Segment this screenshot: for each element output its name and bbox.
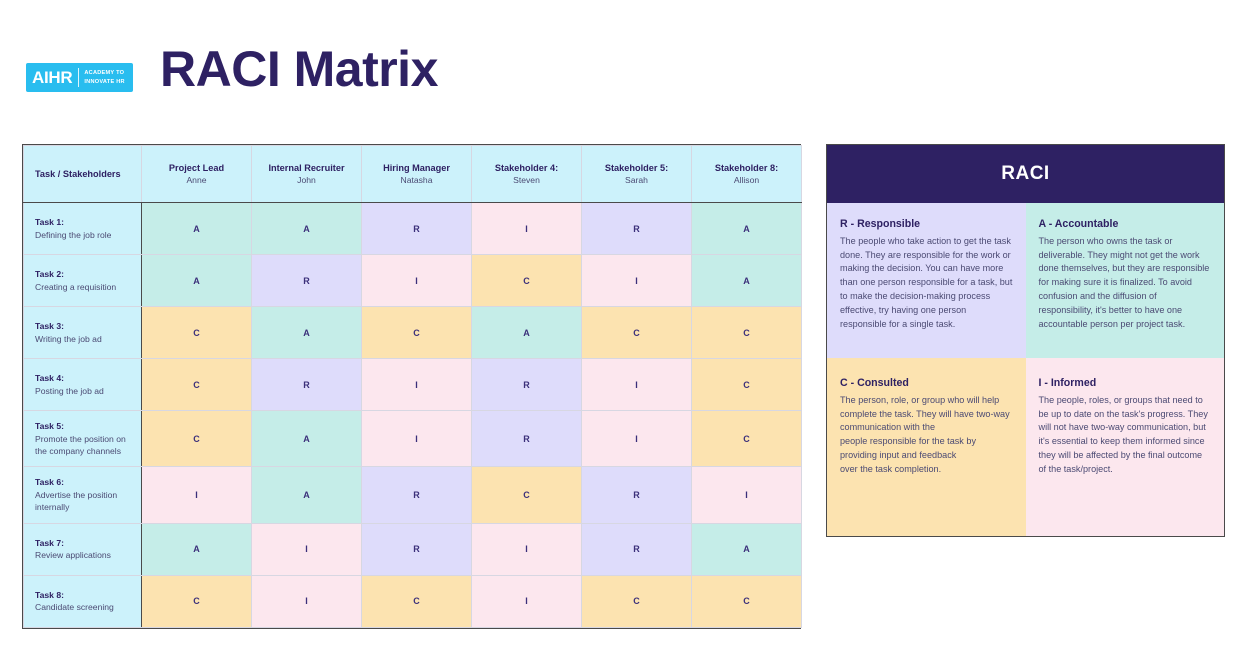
raci-cell: C xyxy=(582,307,692,359)
raci-cell: I xyxy=(582,255,692,307)
raci-cell: R xyxy=(472,359,582,411)
task-number: Task 1: xyxy=(35,216,132,229)
task-number: Task 3: xyxy=(35,320,132,333)
raci-cell: C xyxy=(692,359,802,411)
legend-grid: R - Responsible The people who take acti… xyxy=(827,203,1224,536)
task-description: Promote the position on the company chan… xyxy=(35,433,132,457)
raci-cell: I xyxy=(472,523,582,575)
raci-cell: R xyxy=(362,203,472,255)
raci-cell: A xyxy=(252,411,362,467)
page-title: RACI Matrix xyxy=(160,44,438,94)
task-number: Task 8: xyxy=(35,589,132,602)
raci-cell: I xyxy=(582,359,692,411)
task-cell: Task 7:Review applications xyxy=(24,523,142,575)
column-header-stakeholder: Hiring Manager Natasha xyxy=(362,146,472,203)
raci-cell: C xyxy=(142,359,252,411)
column-header-stakeholder: Stakeholder 8: Allison xyxy=(692,146,802,203)
task-number: Task 4: xyxy=(35,372,132,385)
legend-item-responsible: R - Responsible The people who take acti… xyxy=(827,203,1026,358)
task-description: Writing the job ad xyxy=(35,333,132,345)
raci-cell: R xyxy=(582,467,692,523)
raci-cell: R xyxy=(252,255,362,307)
legend-title: RACI xyxy=(827,145,1224,203)
raci-cell: A xyxy=(252,307,362,359)
column-header-stakeholder: Stakeholder 5: Sarah xyxy=(582,146,692,203)
raci-cell: A xyxy=(252,203,362,255)
raci-cell: A xyxy=(142,255,252,307)
logo-wordmark: AIHR xyxy=(32,69,72,86)
raci-cell: A xyxy=(142,203,252,255)
column-header-task: Task / Stakeholders xyxy=(24,146,142,203)
raci-cell: C xyxy=(582,575,692,627)
raci-cell: A xyxy=(692,203,802,255)
raci-cell: C xyxy=(472,255,582,307)
table-row: Task 2:Creating a requisitionARICIA xyxy=(24,255,802,307)
raci-cell: I xyxy=(142,467,252,523)
raci-cell: I xyxy=(692,467,802,523)
raci-cell: A xyxy=(692,255,802,307)
task-cell: Task 8:Candidate screening xyxy=(24,575,142,627)
raci-cell: I xyxy=(472,203,582,255)
raci-cell: R xyxy=(582,203,692,255)
raci-cell: R xyxy=(362,467,472,523)
raci-cell: C xyxy=(142,575,252,627)
raci-cell: C xyxy=(692,575,802,627)
raci-cell: I xyxy=(362,255,472,307)
task-description: Review applications xyxy=(35,549,132,561)
raci-legend-panel: RACI R - Responsible The people who take… xyxy=(826,144,1225,537)
task-number: Task 6: xyxy=(35,476,132,489)
raci-cell: C xyxy=(362,307,472,359)
table-row: Task 5:Promote the position on the compa… xyxy=(24,411,802,467)
raci-cell: I xyxy=(582,411,692,467)
table-row: Task 7:Review applicationsAIRIRA xyxy=(24,523,802,575)
raci-matrix-table: Task / Stakeholders Project Lead Anne In… xyxy=(22,144,801,629)
raci-cell: C xyxy=(692,411,802,467)
task-cell: Task 2:Creating a requisition xyxy=(24,255,142,307)
raci-cell: A xyxy=(142,523,252,575)
raci-cell: I xyxy=(252,575,362,627)
task-cell: Task 1:Defining the job role xyxy=(24,203,142,255)
task-cell: Task 6:Advertise the position internally xyxy=(24,467,142,523)
page-header: AIHR ACADEMY TO INNOVATE HR RACI Matrix xyxy=(0,0,1250,140)
task-number: Task 2: xyxy=(35,268,132,281)
task-description: Candidate screening xyxy=(35,601,132,613)
raci-cell: A xyxy=(472,307,582,359)
table-body: Task 1:Defining the job roleAARIRATask 2… xyxy=(24,203,802,628)
logo-tagline: ACADEMY TO INNOVATE HR xyxy=(84,69,124,85)
column-header-stakeholder: Project Lead Anne xyxy=(142,146,252,203)
raci-cell: A xyxy=(252,467,362,523)
task-number: Task 5: xyxy=(35,420,132,433)
table-row: Task 3:Writing the job adCACACC xyxy=(24,307,802,359)
raci-cell: I xyxy=(252,523,362,575)
task-cell: Task 3:Writing the job ad xyxy=(24,307,142,359)
task-cell: Task 5:Promote the position on the compa… xyxy=(24,411,142,467)
legend-item-informed: I - Informed The people, roles, or group… xyxy=(1026,358,1225,536)
raci-cell: R xyxy=(582,523,692,575)
logo-divider xyxy=(78,68,79,87)
table-row: Task 6:Advertise the position internally… xyxy=(24,467,802,523)
task-description: Advertise the position internally xyxy=(35,489,132,513)
table-row: Task 1:Defining the job roleAARIRA xyxy=(24,203,802,255)
column-header-stakeholder: Stakeholder 4: Steven xyxy=(472,146,582,203)
task-description: Creating a requisition xyxy=(35,281,132,293)
raci-cell: R xyxy=(472,411,582,467)
task-number: Task 7: xyxy=(35,537,132,550)
raci-cell: A xyxy=(692,523,802,575)
aihr-logo: AIHR ACADEMY TO INNOVATE HR xyxy=(26,63,133,92)
column-header-stakeholder: Internal Recruiter John xyxy=(252,146,362,203)
raci-cell: C xyxy=(142,411,252,467)
task-description: Defining the job role xyxy=(35,229,132,241)
raci-cell: R xyxy=(362,523,472,575)
raci-cell: I xyxy=(362,411,472,467)
task-description: Posting the job ad xyxy=(35,385,132,397)
table-header-row: Task / Stakeholders Project Lead Anne In… xyxy=(24,146,802,203)
raci-cell: I xyxy=(472,575,582,627)
raci-cell: C xyxy=(692,307,802,359)
raci-cell: R xyxy=(252,359,362,411)
task-cell: Task 4:Posting the job ad xyxy=(24,359,142,411)
legend-item-consulted: C - Consulted The person, role, or group… xyxy=(827,358,1026,536)
legend-item-accountable: A - Accountable The person who owns the … xyxy=(1026,203,1225,358)
raci-cell: I xyxy=(362,359,472,411)
table-row: Task 4:Posting the job adCRIRIC xyxy=(24,359,802,411)
raci-cell: C xyxy=(472,467,582,523)
raci-cell: C xyxy=(142,307,252,359)
raci-cell: C xyxy=(362,575,472,627)
table-row: Task 8:Candidate screeningCICICC xyxy=(24,575,802,627)
